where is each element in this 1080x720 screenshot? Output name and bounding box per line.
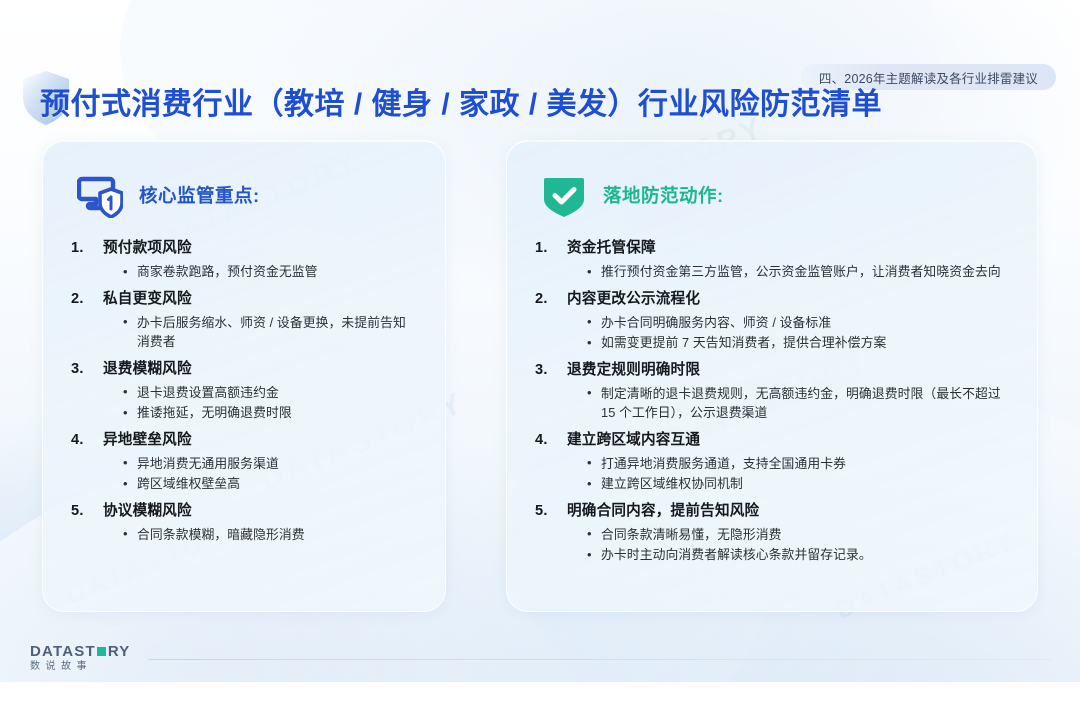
item-number: 2.	[71, 286, 95, 312]
shield-check-icon	[541, 172, 587, 218]
bullet: 办卡后服务缩水、师资 / 设备更换，未提前告知消费者	[123, 313, 415, 352]
item-title-text: 预付款项风险	[103, 240, 192, 256]
bullet: 办卡时主动向消费者解读核心条款并留存记录。	[587, 545, 1007, 565]
brand-logo-en-part1: DATAST	[30, 644, 96, 659]
item-title-text: 内容更改公示流程化	[567, 291, 700, 307]
list-item: 4. 异地壁垒风险 异地消费无通用服务渠道 跨区域维权壁垒高	[103, 427, 415, 494]
item-title-text: 私自更变风险	[103, 291, 192, 307]
item-bullets: 退卡退费设置高额违约金 推诿拖延，无明确退费时限	[103, 383, 415, 423]
bullet: 合同条款模糊，暗藏隐形消费	[123, 525, 415, 545]
item-title: 5. 协议模糊风险	[103, 498, 415, 524]
item-number: 4.	[535, 427, 559, 453]
item-bullets: 异地消费无通用服务渠道 跨区域维权壁垒高	[103, 454, 415, 494]
item-title-text: 建立跨区域内容互通	[567, 432, 700, 448]
brand-logo-en: DATAST RY	[30, 644, 131, 659]
item-title: 2. 私自更变风险	[103, 286, 415, 312]
list-item: 3. 退费模糊风险 退卡退费设置高额违约金 推诿拖延，无明确退费时限	[103, 356, 415, 423]
bullet: 异地消费无通用服务渠道	[123, 454, 415, 474]
card-header: 核心监管重点:	[77, 171, 419, 219]
item-title-text: 异地壁垒风险	[103, 432, 192, 448]
brand-logo-square-icon	[97, 647, 106, 656]
item-bullets: 办卡合同明确服务内容、师资 / 设备标准 如需变更提前 7 天告知消费者，提供合…	[567, 313, 1007, 353]
card-core-regulation: 核心监管重点: 1. 预付款项风险 商家卷款跑路，预付资金无监管 2. 私自更变…	[42, 140, 446, 612]
item-title: 4. 建立跨区域内容互通	[567, 427, 1007, 453]
item-bullets: 合同条款清晰易懂，无隐形消费 办卡时主动向消费者解读核心条款并留存记录。	[567, 525, 1007, 565]
list-item: 5. 协议模糊风险 合同条款模糊，暗藏隐形消费	[103, 498, 415, 545]
item-title: 3. 退费模糊风险	[103, 356, 415, 382]
bullet: 打通异地消费服务通道，支持全国通用卡券	[587, 454, 1007, 474]
risk-list: 1. 预付款项风险 商家卷款跑路，预付资金无监管 2. 私自更变风险 办卡后服务…	[69, 235, 419, 544]
brand-logo: DATAST RY 数说故事	[30, 644, 131, 672]
footer-divider	[148, 659, 1053, 660]
bullet: 退卡退费设置高额违约金	[123, 383, 415, 403]
item-number: 5.	[535, 498, 559, 524]
item-bullets: 合同条款模糊，暗藏隐形消费	[103, 525, 415, 545]
item-title-text: 明确合同内容，提前告知风险	[567, 503, 759, 519]
content-cards: 核心监管重点: 1. 预付款项风险 商家卷款跑路，预付资金无监管 2. 私自更变…	[42, 140, 1038, 612]
item-number: 3.	[71, 356, 95, 382]
item-title-text: 协议模糊风险	[103, 503, 192, 519]
item-title: 1. 资金托管保障	[567, 235, 1007, 261]
brand-logo-en-part2: RY	[108, 644, 131, 659]
bullet: 推诿拖延，无明确退费时限	[123, 403, 415, 423]
list-item: 4. 建立跨区域内容互通 打通异地消费服务通道，支持全国通用卡券 建立跨区域维权…	[567, 427, 1007, 494]
card-header: 落地防范动作:	[541, 171, 1011, 219]
card-heading-core-regulation: 核心监管重点:	[139, 182, 260, 208]
item-number: 1.	[71, 235, 95, 261]
item-title-text: 退费模糊风险	[103, 361, 192, 377]
list-item: 2. 私自更变风险 办卡后服务缩水、师资 / 设备更换，未提前告知消费者	[103, 286, 415, 352]
item-title: 3. 退费定规则明确时限	[567, 357, 1007, 383]
list-item: 5. 明确合同内容，提前告知风险 合同条款清晰易懂，无隐形消费 办卡时主动向消费…	[567, 498, 1007, 565]
page-title-text: 预付式消费行业（教培 / 健身 / 家政 / 美发）行业风险防范清单	[40, 79, 882, 123]
item-number: 1.	[535, 235, 559, 261]
item-title: 1. 预付款项风险	[103, 235, 415, 261]
item-title: 2. 内容更改公示流程化	[567, 286, 1007, 312]
item-number: 5.	[71, 498, 95, 524]
list-item: 2. 内容更改公示流程化 办卡合同明确服务内容、师资 / 设备标准 如需变更提前…	[567, 286, 1007, 353]
item-bullets: 商家卷款跑路，预付资金无监管	[103, 262, 415, 282]
bullet: 办卡合同明确服务内容、师资 / 设备标准	[587, 313, 1007, 333]
card-heading-prevention: 落地防范动作:	[603, 182, 724, 208]
bullet: 商家卷款跑路，预付资金无监管	[123, 262, 415, 282]
bottom-white-band	[0, 682, 1080, 720]
slide-canvas: DATASTORY DATASTORY DATASTORY DATASTORY …	[0, 0, 1080, 720]
item-bullets: 制定清晰的退卡退费规则，无高额违约金，明确退费时限（最长不超过 15 个工作日）…	[567, 384, 1007, 423]
item-title-text: 资金托管保障	[567, 240, 656, 256]
bullet: 建立跨区域维权协同机制	[587, 474, 1007, 494]
list-item: 1. 预付款项风险 商家卷款跑路，预付资金无监管	[103, 235, 415, 282]
item-bullets: 推行预付资金第三方监管，公示资金监管账户，让消费者知晓资金去向	[567, 262, 1007, 282]
item-number: 4.	[71, 427, 95, 453]
footer: DATAST RY 数说故事	[30, 644, 131, 672]
item-bullets: 办卡后服务缩水、师资 / 设备更换，未提前告知消费者	[103, 313, 415, 352]
bullet: 如需变更提前 7 天告知消费者，提供合理补偿方案	[587, 333, 1007, 353]
monitor-shield-icon	[77, 172, 123, 218]
item-title-text: 退费定规则明确时限	[567, 362, 700, 378]
action-list: 1. 资金托管保障 推行预付资金第三方监管，公示资金监管账户，让消费者知晓资金去…	[533, 235, 1011, 565]
card-prevention-actions: 落地防范动作: 1. 资金托管保障 推行预付资金第三方监管，公示资金监管账户，让…	[506, 140, 1038, 612]
item-bullets: 打通异地消费服务通道，支持全国通用卡券 建立跨区域维权协同机制	[567, 454, 1007, 494]
list-item: 3. 退费定规则明确时限 制定清晰的退卡退费规则，无高额违约金，明确退费时限（最…	[567, 357, 1007, 423]
bullet: 合同条款清晰易懂，无隐形消费	[587, 525, 1007, 545]
item-number: 3.	[535, 357, 559, 383]
item-number: 2.	[535, 286, 559, 312]
brand-logo-cn: 数说故事	[30, 661, 131, 672]
item-title: 4. 异地壁垒风险	[103, 427, 415, 453]
list-item: 1. 资金托管保障 推行预付资金第三方监管，公示资金监管账户，让消费者知晓资金去…	[567, 235, 1007, 282]
item-title: 5. 明确合同内容，提前告知风险	[567, 498, 1007, 524]
bullet: 推行预付资金第三方监管，公示资金监管账户，让消费者知晓资金去向	[587, 262, 1007, 282]
bullet: 跨区域维权壁垒高	[123, 474, 415, 494]
bullet: 制定清晰的退卡退费规则，无高额违约金，明确退费时限（最长不超过 15 个工作日）…	[587, 384, 1007, 423]
page-title: 预付式消费行业（教培 / 健身 / 家政 / 美发）行业风险防范清单	[20, 76, 882, 126]
